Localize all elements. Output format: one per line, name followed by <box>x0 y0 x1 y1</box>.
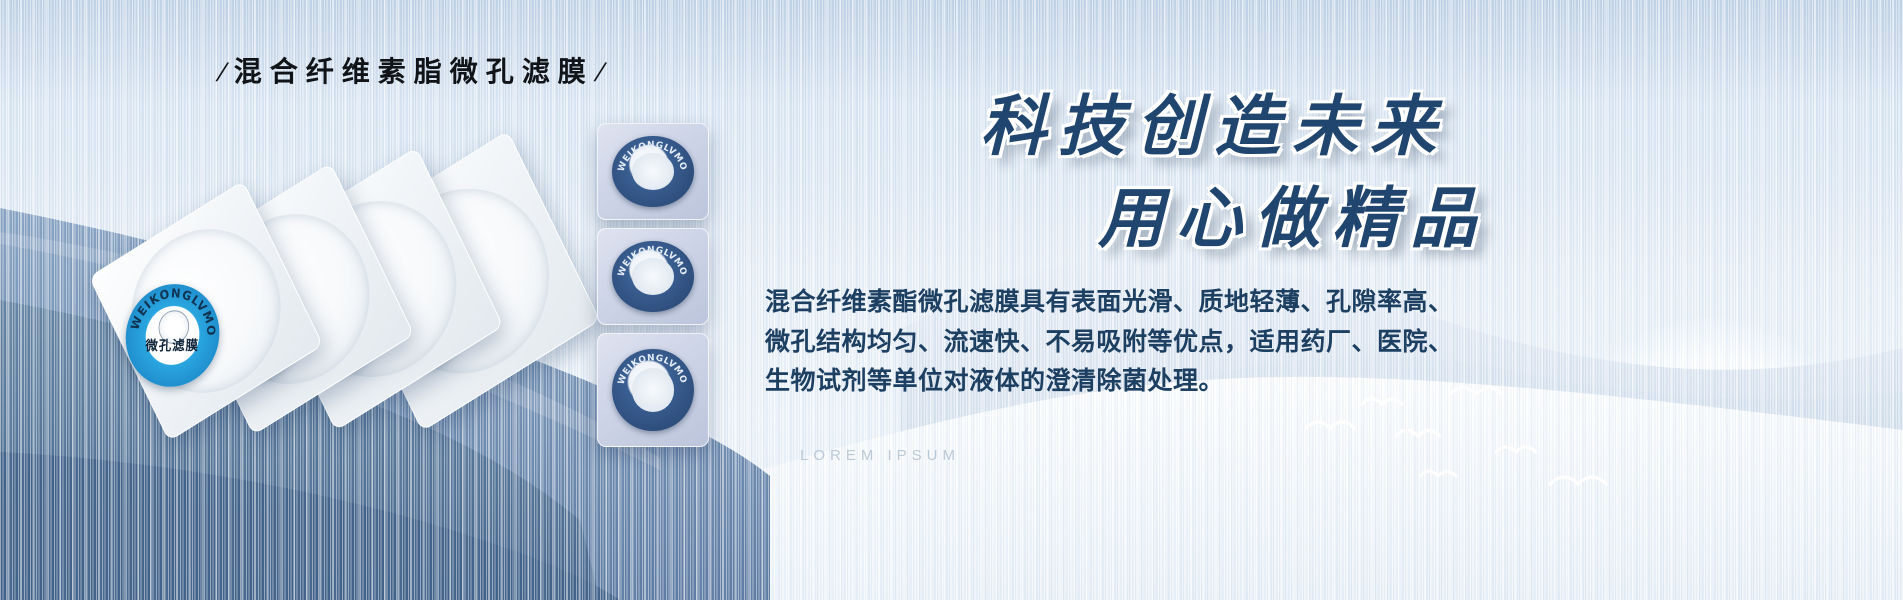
title-slash-left-icon: / <box>213 57 230 89</box>
unit-label: WEIKONGLVMO <box>612 241 693 311</box>
promo-banner: /混合纤维素脂微孔滤膜/ 微孔滤膜 WEIKONGLVMO 孔滤膜 <box>0 0 1903 600</box>
svg-text:WEIKONGLVMO: WEIKONGLVMO <box>617 141 689 174</box>
svg-text:WEIKONGLVMO: WEIKONGLVMO <box>128 285 220 338</box>
unit-label: WEIKONGLVMO <box>612 349 693 432</box>
product-label: 微孔滤膜 WEIKONGLVMO <box>124 284 222 387</box>
headline-line-1: 科技创造未来 <box>980 84 1448 168</box>
headline-line-2: 用心做精品 <box>980 176 1488 260</box>
watermark-text: LOREM IPSUM <box>800 447 960 464</box>
unit-brand-en-arc: WEIKONGLVMO <box>612 349 693 430</box>
unit-brand-en-arc: WEIKONGLVMO <box>612 241 693 311</box>
unit-brand-en-arc: WEIKONGLVMO <box>612 136 693 206</box>
paragraph-line: 混合纤维素酯微孔滤膜具有表面光滑、质地轻薄、孔隙率高、 <box>765 282 1445 322</box>
section-title: /混合纤维素脂微孔滤膜/ <box>218 50 604 90</box>
filter-unit: WEIKONGLVMO <box>597 228 709 325</box>
description-paragraph: 混合纤维素酯微孔滤膜具有表面光滑、质地轻薄、孔隙率高、 微孔结构均匀、流速快、不… <box>765 282 1445 401</box>
section-title-text: 混合纤维素脂微孔滤膜 <box>234 55 594 88</box>
filter-unit: WEIKONGLVMO <box>597 123 709 220</box>
svg-text:WEIKONGLVMO: WEIKONGLVMO <box>617 246 689 279</box>
svg-text:WEIKONGLVMO: WEIKONGLVMO <box>617 353 689 386</box>
paragraph-line: 生物试剂等单位对液体的澄清除菌处理。 <box>765 361 1445 401</box>
label-brand-en-arc: WEIKONGLVMO <box>124 284 222 387</box>
product-photo-group: 微孔滤膜 WEIKONGLVMO 孔滤膜 EIKONGLVMO <box>105 128 575 458</box>
unit-label: WEIKONGLVMO <box>612 136 693 206</box>
filter-unit: WEIKONGLVMO <box>597 333 709 447</box>
headline-block: 科技创造未来 用心做精品 <box>980 84 1448 261</box>
sun-glow <box>1560 318 1860 600</box>
paragraph-line: 微孔结构均匀、流速快、不易吸附等优点，适用药厂、医院、 <box>765 322 1445 362</box>
